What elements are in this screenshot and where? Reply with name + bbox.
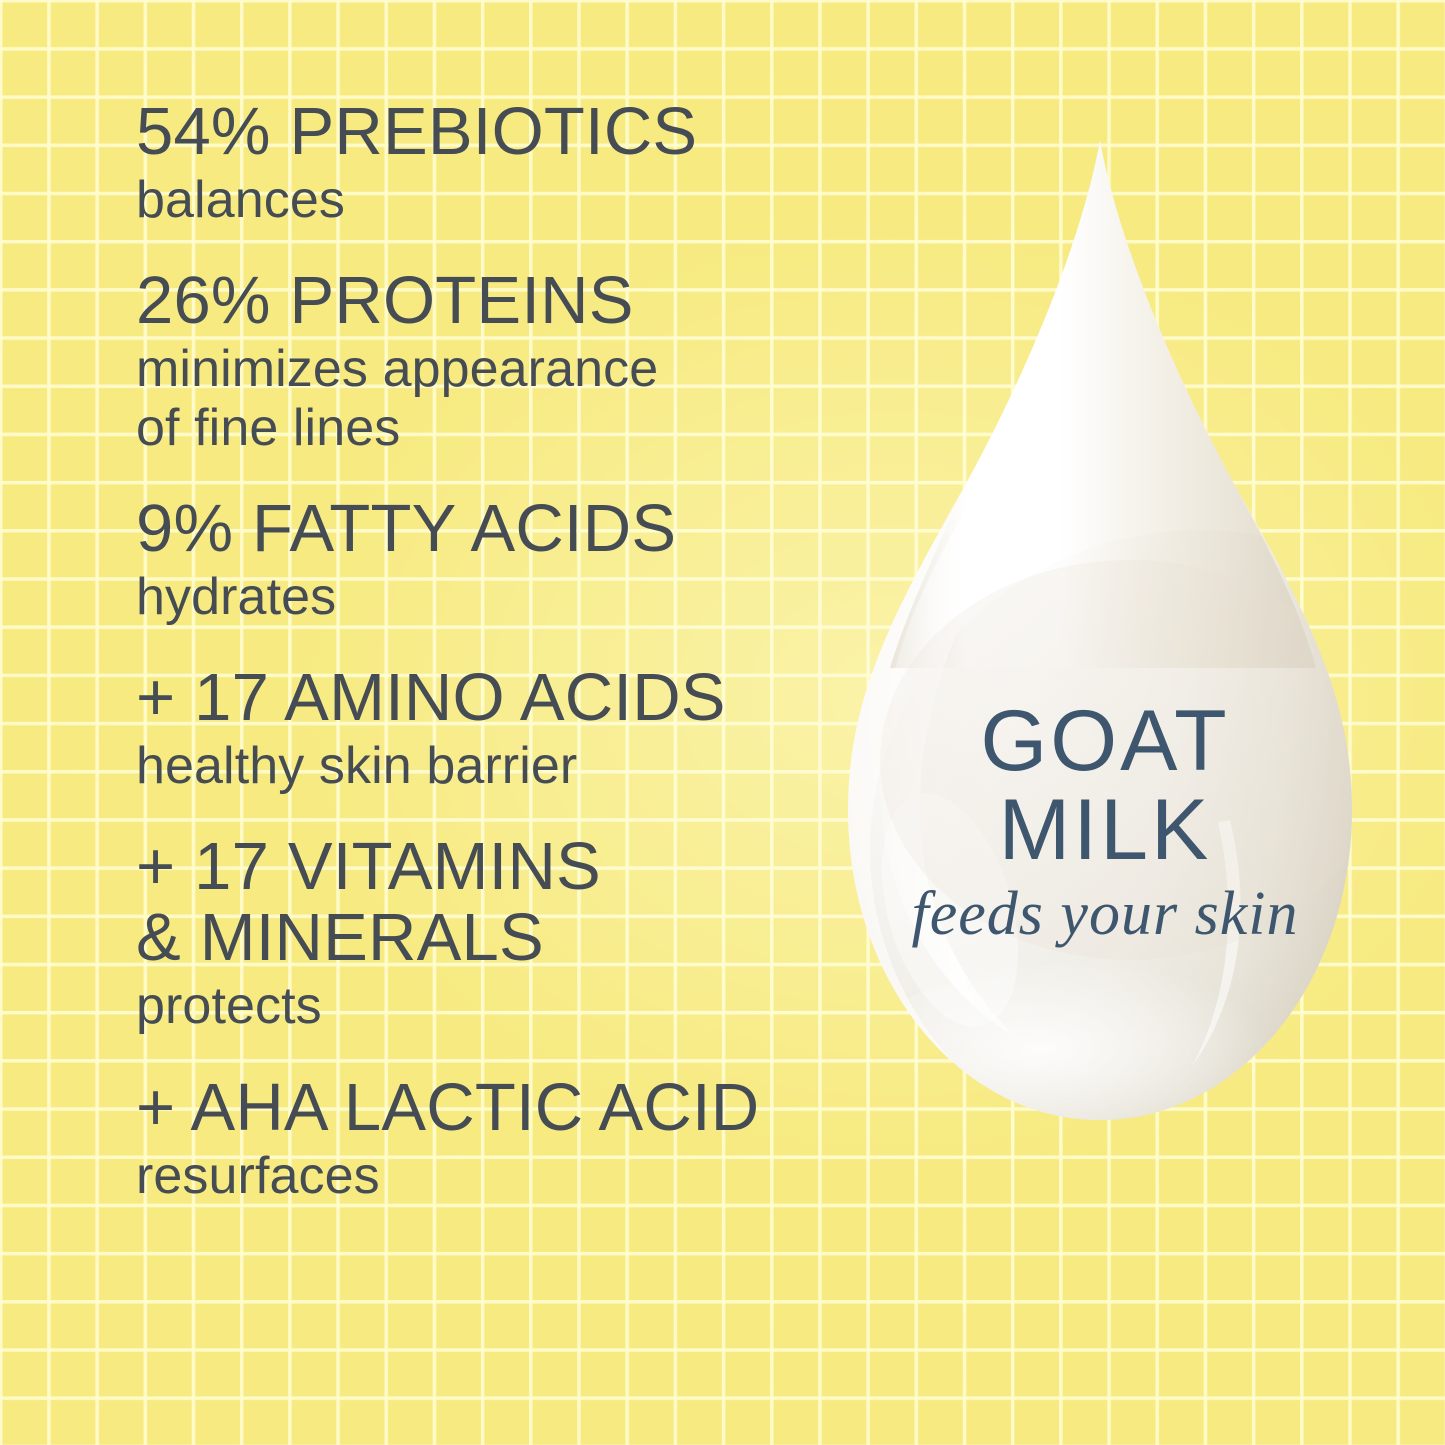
fact-item: + 17 AMINO ACIDS healthy skin barrier — [136, 662, 836, 795]
fact-description: protects — [136, 977, 836, 1035]
fact-description: healthy skin barrier — [136, 737, 836, 795]
fact-title: 54% PREBIOTICS — [136, 96, 836, 167]
fact-description: balances — [136, 171, 836, 229]
fact-item: 26% PROTEINS minimizes appearance of fin… — [136, 265, 836, 456]
fact-item: + 17 VITAMINS & MINERALS protects — [136, 831, 836, 1035]
fact-title: 26% PROTEINS — [136, 265, 836, 336]
ingredient-fact-list: 54% PREBIOTICS balances 26% PROTEINS min… — [136, 96, 836, 1205]
fact-description: minimizes appearance of fine lines — [136, 340, 836, 456]
fact-item: 9% FATTY ACIDS hydrates — [136, 493, 836, 626]
fact-description: resurfaces — [136, 1147, 836, 1205]
fact-title: 9% FATTY ACIDS — [136, 493, 836, 564]
fact-title: + 17 VITAMINS & MINERALS — [136, 831, 836, 973]
milk-droplet-illustration — [800, 120, 1420, 1170]
fact-item: 54% PREBIOTICS balances — [136, 96, 836, 229]
fact-title: + 17 AMINO ACIDS — [136, 662, 836, 733]
milk-droplet-icon — [800, 120, 1420, 1170]
droplet-core-shade — [880, 560, 1380, 960]
fact-description: hydrates — [136, 568, 836, 626]
goat-milk-ingredient-poster: 54% PREBIOTICS balances 26% PROTEINS min… — [0, 0, 1445, 1445]
fact-item: + AHA LACTIC ACID resurfaces — [136, 1072, 836, 1205]
fact-title: + AHA LACTIC ACID — [136, 1072, 836, 1143]
